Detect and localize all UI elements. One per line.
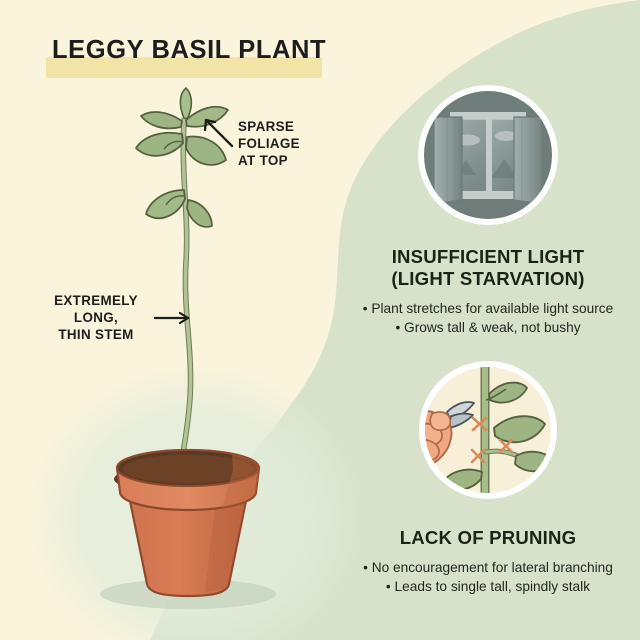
infographic-root: LEGGY BASIL PLANT SPARSE FOLIAGE AT TOP … bbox=[0, 0, 640, 640]
bullet-item: • Leads to single tall, spindly stalk bbox=[338, 577, 638, 596]
panel-heading-insufficient-light: INSUFFICIENT LIGHT (LIGHT STARVATION) bbox=[338, 246, 638, 290]
panel-bullets-insufficient-light: • Plant stretches for available light so… bbox=[338, 299, 638, 338]
title-block: LEGGY BASIL PLANT bbox=[52, 38, 326, 64]
page-title: LEGGY BASIL PLANT bbox=[52, 38, 326, 64]
pruning-shears-icon bbox=[412, 357, 564, 509]
bullet-item: • Plant stretches for available light so… bbox=[338, 299, 638, 318]
bullet-item: • Grows tall & weak, not bushy bbox=[338, 318, 638, 337]
panel-bullets-lack-of-pruning: • No encouragement for lateral branching… bbox=[338, 558, 638, 597]
annotation-sparse-foliage: SPARSE FOLIAGE AT TOP bbox=[238, 118, 300, 169]
annotation-long-thin-stem: EXTREMELY LONG, THIN STEM bbox=[48, 292, 144, 343]
bullet-item: • No encouragement for lateral branching bbox=[338, 558, 638, 577]
window-icon bbox=[412, 80, 564, 232]
panel-lack-of-pruning: LACK OF PRUNING • No encouragement for l… bbox=[338, 357, 638, 597]
panel-insufficient-light: INSUFFICIENT LIGHT (LIGHT STARVATION) • … bbox=[338, 80, 638, 338]
panel-heading-lack-of-pruning: LACK OF PRUNING bbox=[338, 527, 638, 549]
leaf-top-center bbox=[180, 88, 191, 119]
